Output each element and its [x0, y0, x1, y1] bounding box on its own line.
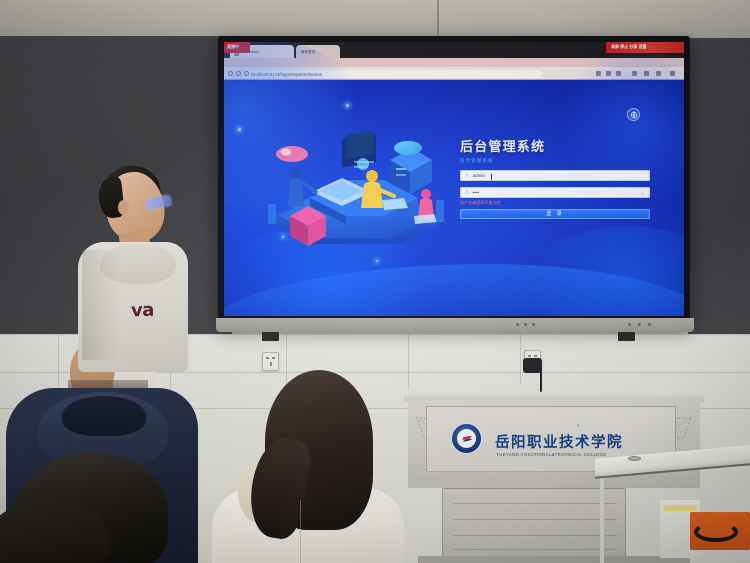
eye-icon[interactable] — [640, 192, 645, 196]
login-title: 后台管理系统 — [460, 136, 650, 155]
equipment-label — [664, 505, 696, 511]
wall-outlet-left — [262, 352, 279, 371]
display-mount-bracket — [618, 332, 635, 341]
login-error-text: 用户名或密码不能为空 — [460, 200, 650, 206]
ceiling-seam — [437, 0, 439, 40]
equipment-cabinet[interactable] — [442, 488, 626, 560]
login-submit-button[interactable]: 登 录 — [460, 209, 650, 219]
sparkle-dot — [238, 128, 241, 131]
coiled-cable — [694, 522, 738, 542]
sparkle-dot — [346, 104, 349, 107]
ear — [118, 200, 129, 215]
classroom-presentation-photo: vue-admin 新标签页 直播中 录屏 停止 分享 设置 localhost… — [0, 0, 750, 563]
username-value: admin — [473, 173, 486, 178]
jacket-collar — [62, 396, 146, 436]
trademark-mark: ® — [577, 424, 580, 428]
globe-language-icon[interactable] — [627, 108, 640, 121]
hoodie-graphic-text: va — [131, 300, 155, 322]
user-icon — [465, 173, 470, 178]
display-screen[interactable]: vue-admin 新标签页 直播中 录屏 停止 分享 设置 localhost… — [224, 42, 684, 316]
lock-icon — [465, 190, 470, 195]
login-card: 后台管理系统 后台管理系统 admin •••• — [460, 136, 650, 219]
college-crest-icon — [451, 423, 482, 454]
cable-grommet — [628, 456, 641, 461]
chalkboard-right — [688, 38, 750, 338]
display-control-strip[interactable] — [216, 318, 694, 332]
login-page: 后台管理系统 后台管理系统 admin •••• — [224, 80, 684, 316]
college-name-cn: 岳阳职业技术学院 — [495, 431, 623, 452]
password-value: •••• — [473, 190, 479, 195]
password-field[interactable]: •••• — [460, 187, 650, 198]
garment-shading — [82, 250, 118, 360]
desk-leg — [600, 468, 604, 563]
text-caret — [491, 174, 492, 180]
lectern-podium: ® 岳阳职业技术学院 YUEYANG VOCATIONAL&TECHNICAL … — [404, 392, 704, 563]
sparkle-dot — [376, 260, 378, 262]
username-field[interactable]: admin — [460, 170, 650, 181]
display-mount-bracket — [262, 332, 279, 341]
college-name-en: YUEYANG VOCATIONAL&TECHNICAL COLLEGE — [496, 452, 606, 457]
coat-seam — [300, 500, 301, 563]
login-subtitle: 后台管理系统 — [460, 158, 650, 164]
podium-base — [418, 556, 690, 563]
isometric-team-workstation-illustration — [250, 120, 460, 260]
power-cable — [540, 368, 542, 392]
